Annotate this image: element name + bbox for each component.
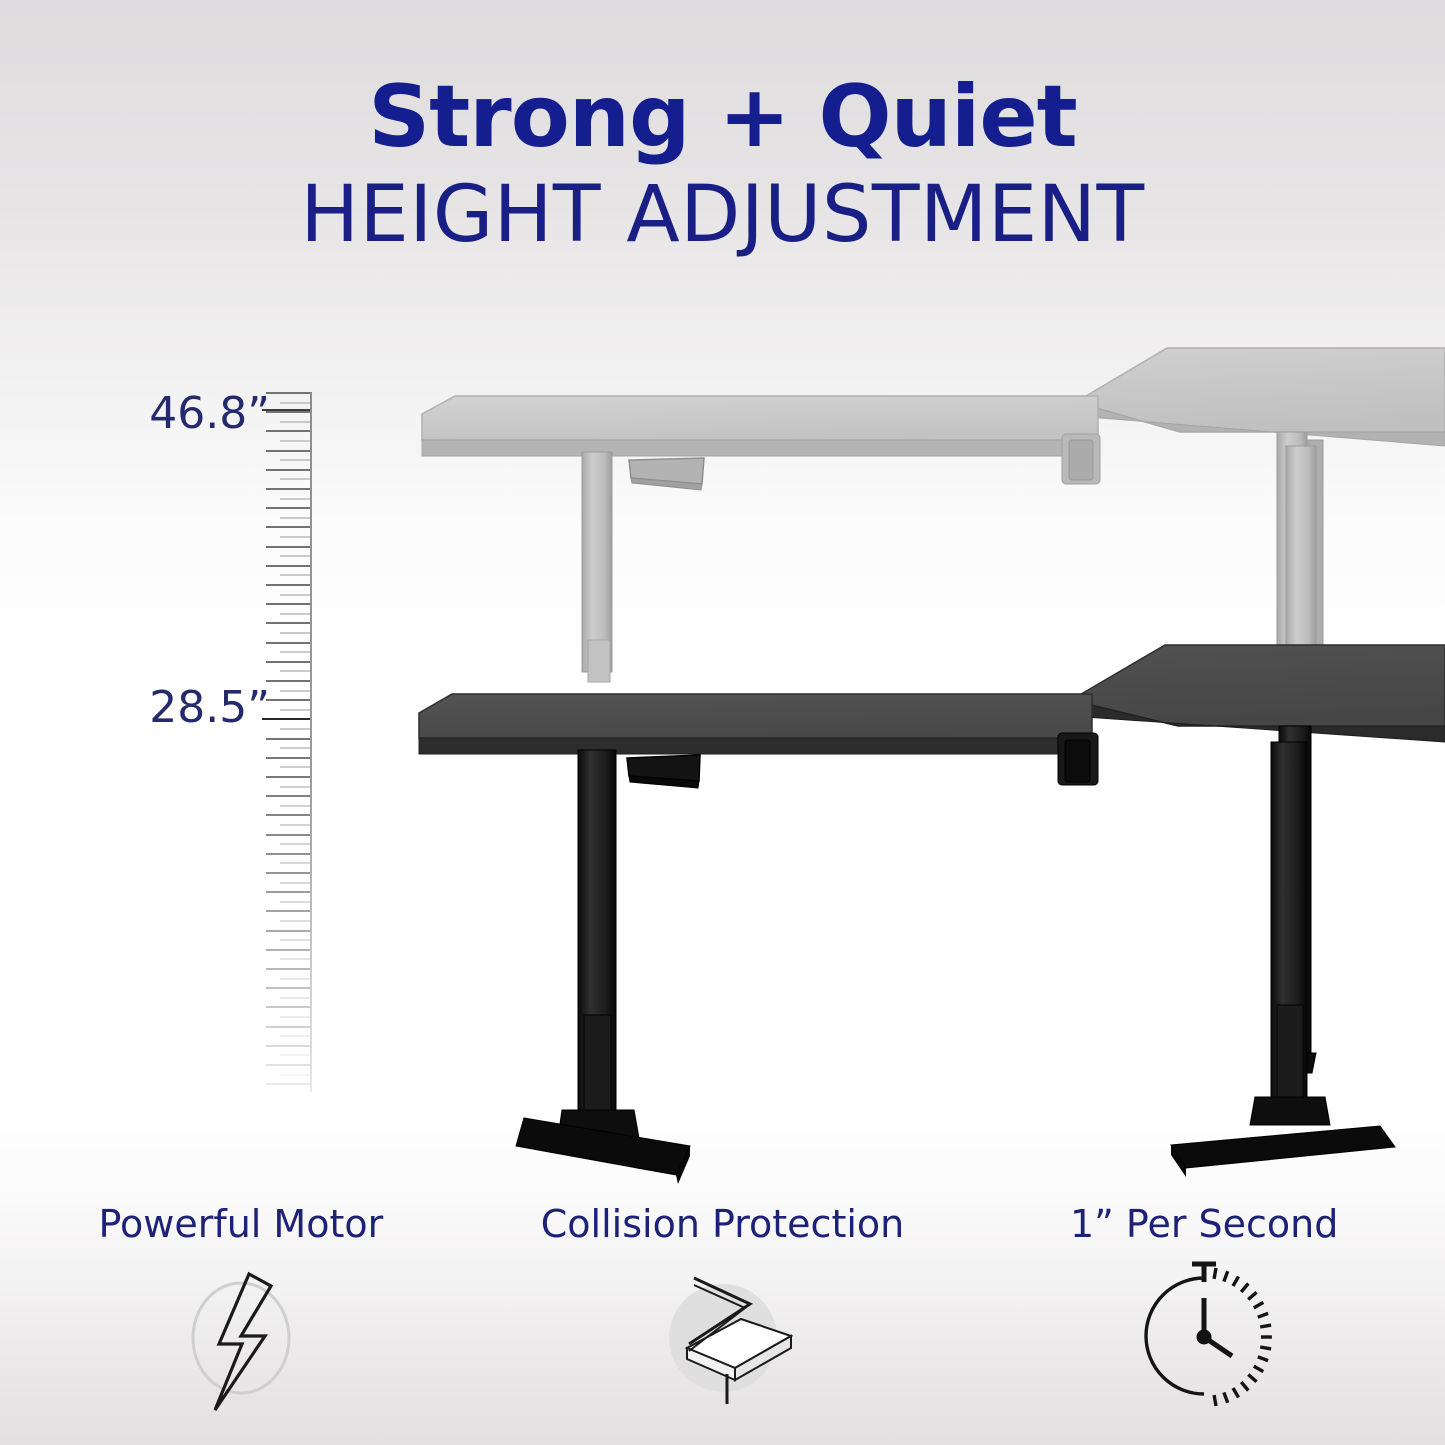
ruler-tick: [280, 1074, 310, 1076]
ruler-tick: [280, 882, 310, 884]
ruler-tick: [280, 805, 310, 807]
ruler-tick: [280, 421, 310, 423]
ruler-tick: [280, 958, 310, 960]
lowered-desk-left-leg: [516, 750, 690, 1184]
ruler-tick: [266, 776, 310, 778]
ruler-tick: [266, 699, 310, 701]
ruler-tick: [266, 1006, 310, 1008]
ruler-tick: [266, 910, 310, 912]
raised-desk-right-leg: [1286, 446, 1316, 646]
ruler-tick: [280, 901, 310, 903]
raised-desk-return-top: [1076, 348, 1445, 446]
ruler-tick: [266, 565, 310, 567]
ruler-tick: [280, 613, 310, 615]
ruler-tick: [266, 392, 310, 394]
lowered-desk-black: [419, 645, 1445, 1184]
ruler-tick: [280, 939, 310, 941]
ruler-tick: [280, 690, 310, 692]
ruler-tick: [266, 968, 310, 970]
ruler-tick: [266, 738, 310, 740]
lowered-desk-motor-housing: [1058, 733, 1098, 785]
ruler-tick: [280, 1054, 310, 1056]
lowered-desk-main-top: [419, 694, 1092, 754]
ruler-tick: [266, 795, 310, 797]
raised-desk-light-gray: [422, 348, 1445, 682]
height-control-keypad-raised[interactable]: [629, 458, 704, 490]
feature-row: Powerful Motor Collision Protection: [0, 1196, 1445, 1445]
height-control-keypad-lowered[interactable]: [627, 755, 700, 788]
ruler-tick: [266, 1083, 310, 1085]
lightning-bolt-icon: [141, 1256, 341, 1426]
ruler-marker-min: [262, 718, 310, 720]
feature-label: Powerful Motor: [98, 1202, 383, 1246]
ruler-tick: [280, 440, 310, 442]
ruler-tick: [280, 651, 310, 653]
ruler-tick: [266, 834, 310, 836]
ruler-tick: [280, 728, 310, 730]
ruler-tick: [280, 670, 310, 672]
ruler-tick: [266, 1064, 310, 1066]
ruler-tick: [266, 1045, 310, 1047]
ruler-tick: [266, 949, 310, 951]
ruler-tick: [266, 450, 310, 452]
ruler-spine: [310, 392, 312, 1092]
ruler-tick: [266, 526, 310, 528]
height-ruler: [250, 392, 312, 1092]
ruler-tick: [280, 498, 310, 500]
ruler-tick: [280, 536, 310, 538]
ruler-tick: [280, 920, 310, 922]
ruler-min-label: 28.5”: [110, 682, 270, 733]
infographic-canvas: Strong + Quiet HEIGHT ADJUSTMENT: [0, 0, 1445, 1445]
ruler-tick: [266, 507, 310, 509]
ruler-tick: [266, 680, 310, 682]
ruler-tick: [280, 402, 310, 404]
ruler-tick: [280, 978, 310, 980]
ruler-marker-max: [262, 409, 310, 411]
ruler-tick: [266, 891, 310, 893]
ruler-tick: [280, 709, 310, 711]
ruler-tick: [280, 632, 310, 634]
ruler-tick: [266, 1026, 310, 1028]
ruler-tick: [280, 478, 310, 480]
feature-speed: 1” Per Second: [963, 1196, 1445, 1445]
ruler-tick: [266, 603, 310, 605]
ruler-tick: [266, 622, 310, 624]
ruler-tick: [280, 766, 310, 768]
ruler-tick: [266, 469, 310, 471]
ruler-tick: [280, 574, 310, 576]
ruler-tick: [280, 862, 310, 864]
lowered-desk-right-leg: [1171, 742, 1395, 1177]
ruler-tick: [280, 555, 310, 557]
ruler-tick: [266, 642, 310, 644]
lowered-desk-return-top: [1071, 645, 1445, 742]
ruler-tick: [266, 584, 310, 586]
raised-desk-left-leg: [582, 452, 612, 682]
raised-desk-motor-housing: [1062, 434, 1100, 484]
ruler-tick: [266, 814, 310, 816]
ruler-tick: [266, 546, 310, 548]
ruler-tick: [280, 459, 310, 461]
ruler-tick: [266, 853, 310, 855]
raised-desk-main-top: [422, 396, 1098, 456]
ruler-tick: [280, 824, 310, 826]
feature-label: 1” Per Second: [1070, 1202, 1338, 1246]
feature-powerful-motor: Powerful Motor: [0, 1196, 482, 1445]
feature-collision-protection: Collision Protection: [482, 1196, 964, 1445]
ruler-tick: [280, 1016, 310, 1018]
ruler-tick: [266, 757, 310, 759]
ruler-tick: [280, 747, 310, 749]
ruler-max-label: 46.8”: [110, 388, 270, 439]
ruler-tick: [280, 594, 310, 596]
ruler-tick: [266, 661, 310, 663]
ruler-tick: [280, 997, 310, 999]
desk-collision-icon: [623, 1256, 823, 1426]
ruler-tick: [266, 430, 310, 432]
ruler-tick: [266, 411, 310, 413]
ruler-tick: [280, 1035, 310, 1037]
ruler-tick: [266, 872, 310, 874]
ruler-tick: [280, 517, 310, 519]
ruler-tick: [280, 843, 310, 845]
feature-label: Collision Protection: [541, 1202, 904, 1246]
clock-icon: [1104, 1256, 1304, 1426]
ruler-tick: [280, 786, 310, 788]
ruler-tick: [266, 987, 310, 989]
ruler-tick: [266, 488, 310, 490]
ruler-tick: [266, 930, 310, 932]
